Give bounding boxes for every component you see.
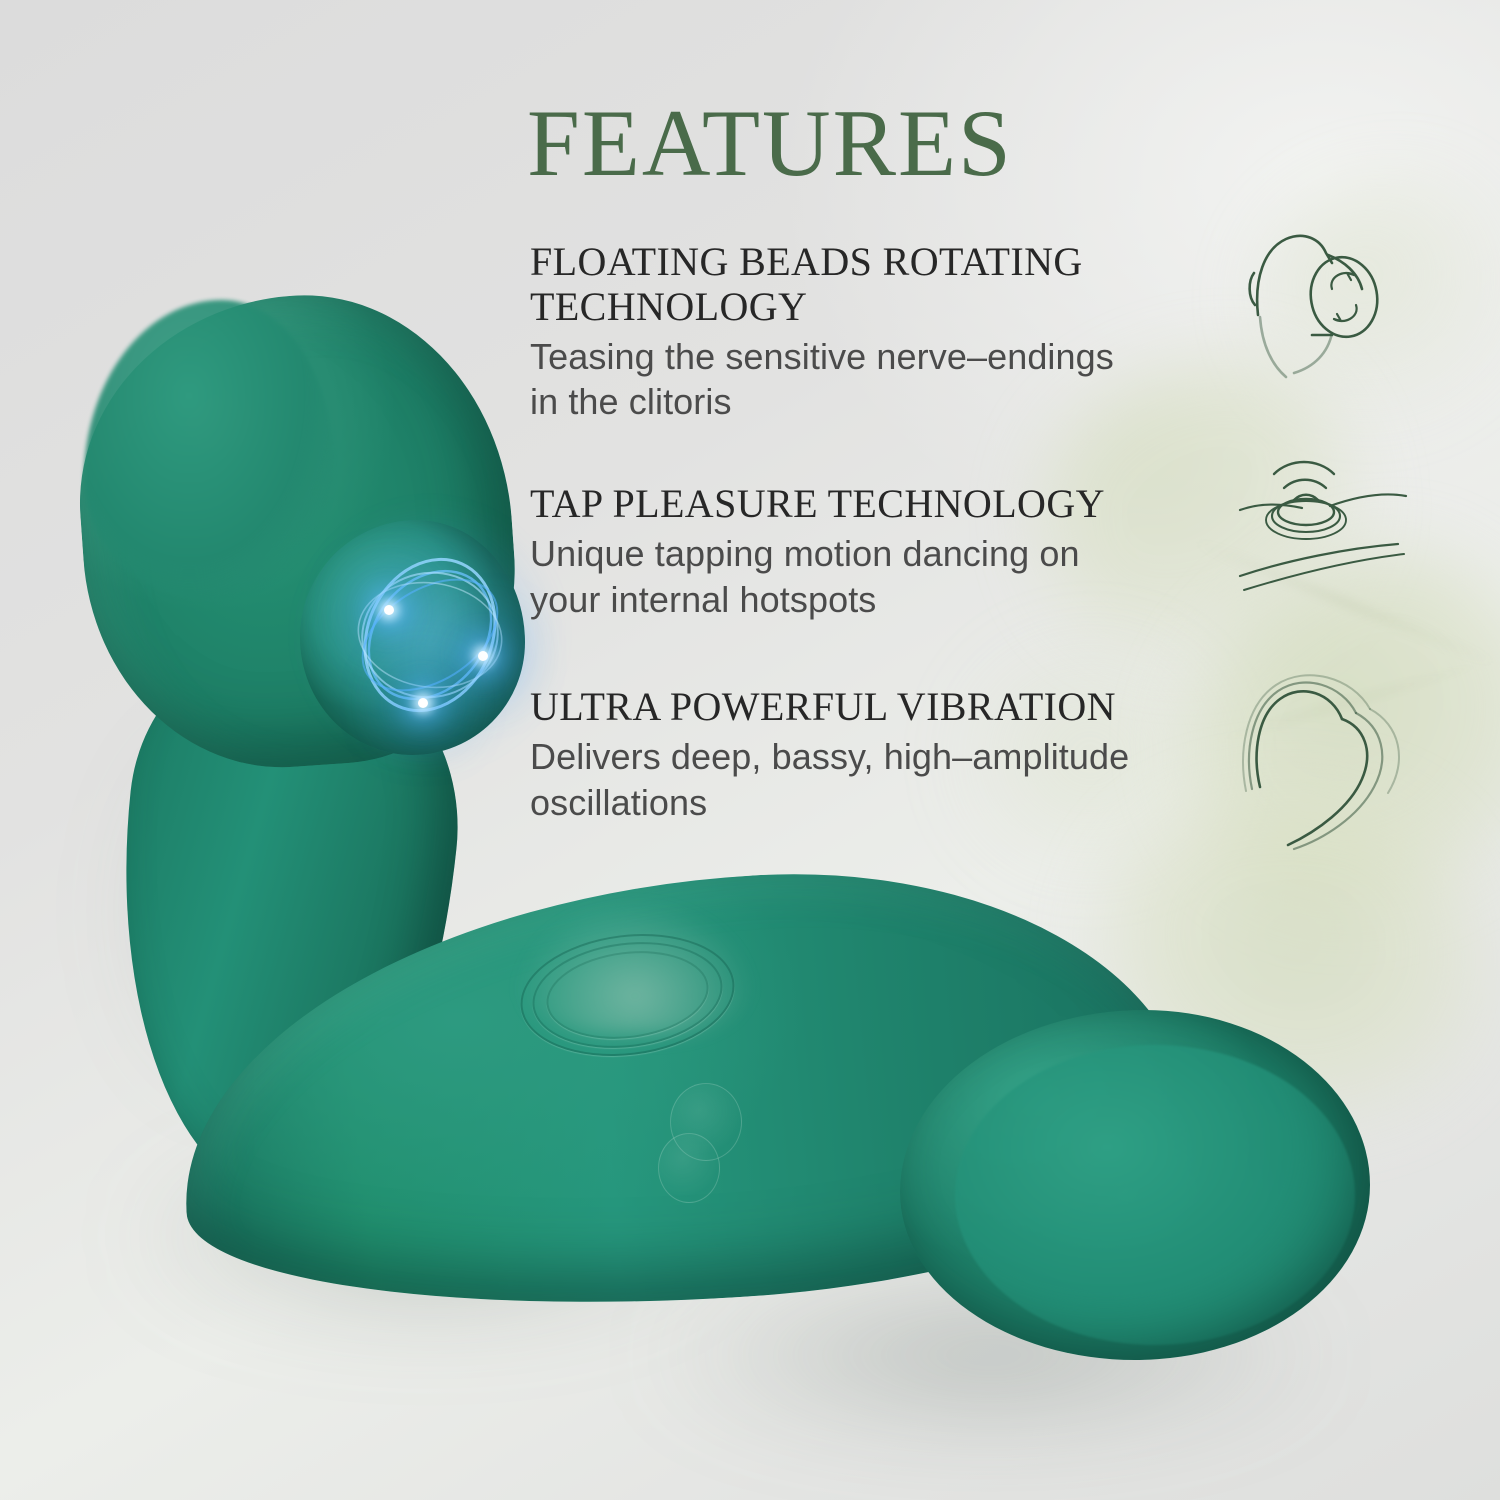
- product-shadow: [110, 700, 350, 1120]
- infographic-canvas: FEATURES FLOATING BEADS ROTATING TECHNOL…: [0, 0, 1500, 1500]
- blurred-stem-shape: [1205, 659, 1494, 746]
- feature-block: ULTRA POWERFUL VIBRATION Delivers deep, …: [530, 685, 1190, 825]
- glow-spark: [478, 651, 488, 661]
- product-tail-bulb: [900, 1010, 1370, 1360]
- glow-spark: [384, 605, 394, 615]
- product-head-lobe: [84, 300, 334, 600]
- rotating-beads-icon: [1228, 205, 1428, 395]
- glow-swirl-svg: [330, 535, 530, 735]
- product-button-bump: [520, 905, 750, 1035]
- glow-halo: [300, 505, 560, 765]
- tap-ripple-icon: [1238, 448, 1433, 623]
- feature-description: Unique tapping motion dancing on your in…: [530, 531, 1190, 622]
- feature-description: Teasing the sensitive nerve–endings in t…: [530, 334, 1190, 425]
- rotating-beads-glow: [330, 535, 530, 735]
- button-ring-outer: [513, 922, 741, 1067]
- feature-heading: TAP PLEASURE TECHNOLOGY: [530, 482, 1190, 527]
- feature-block: FLOATING BEADS ROTATING TECHNOLOGY Teasi…: [530, 240, 1190, 425]
- product-head: [66, 282, 528, 781]
- blurred-leaf-shape: [1137, 510, 1500, 951]
- product-shadow: [120, 1140, 740, 1330]
- feature-heading: FLOATING BEADS ROTATING TECHNOLOGY: [530, 240, 1190, 330]
- button-ring-inner: [541, 942, 713, 1047]
- feature-block: TAP PLEASURE TECHNOLOGY Unique tapping m…: [530, 482, 1190, 622]
- product-head-tip: [300, 520, 525, 755]
- glow-spark: [418, 698, 428, 708]
- product-body-arm: [168, 850, 1202, 1331]
- glow-dimple: [670, 1083, 742, 1161]
- feature-description: Delivers deep, bassy, high–amplitude osc…: [530, 734, 1190, 825]
- product-tail-highlight: [955, 1045, 1355, 1345]
- page-title: FEATURES: [527, 96, 1013, 191]
- blurred-leaf-shape: [1250, 170, 1500, 430]
- feature-heading: ULTRA POWERFUL VIBRATION: [530, 685, 1190, 730]
- button-ring-middle: [526, 932, 728, 1059]
- glow-dimple: [658, 1133, 720, 1203]
- blurred-stem-shape: [1191, 538, 1499, 666]
- product-shadow: [640, 1270, 1340, 1440]
- product-shaft: [90, 624, 477, 1215]
- control-button-rings: [513, 922, 741, 1067]
- oscillation-wave-icon: [1232, 655, 1427, 850]
